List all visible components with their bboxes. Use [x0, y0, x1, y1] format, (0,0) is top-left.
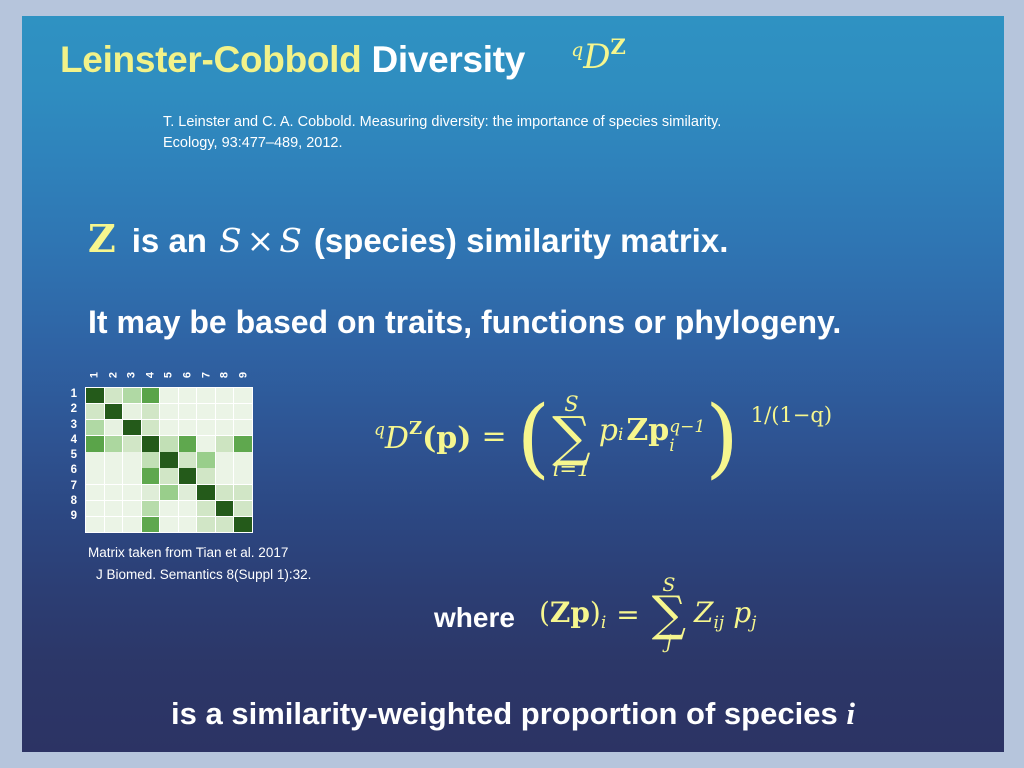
heatmap-cell: [234, 501, 252, 516]
heatmap-row-label-7: 7: [56, 479, 82, 494]
heatmap-cell: [160, 468, 178, 483]
heatmap-cell: [197, 485, 215, 500]
heatmap-cell: [123, 485, 141, 500]
heatmap-cell: [160, 485, 178, 500]
heatmap-row-label-1: 1: [56, 387, 82, 402]
heatmap-cell: [105, 420, 123, 435]
statement-line-1: Z is an S×S (species) similarity matrix.: [88, 216, 728, 261]
where-rhs-p: p: [733, 596, 751, 629]
heatmap-cell: [123, 404, 141, 419]
main-equation: qDZ(p) = ( S ∑ i=1 piZpq−1i ) 1/(1−q): [374, 394, 832, 480]
heatmap-cell: [234, 517, 252, 532]
summation-operator: S ∑ i=1: [552, 394, 591, 480]
heatmap-cell: [160, 404, 178, 419]
heatmap-cell: [234, 404, 252, 419]
where-rhs-z-subscript: ij: [713, 613, 724, 633]
heatmap-cell: [123, 436, 141, 451]
term-p-vector-indices: q−1i: [669, 427, 705, 461]
heatmap-cell: [179, 452, 197, 467]
where-equals: =: [616, 598, 639, 631]
heatmap-cell: [179, 388, 197, 403]
term-p: p: [599, 413, 618, 448]
equation-lhs: qDZ(p): [374, 418, 471, 456]
heatmap-cell: [216, 404, 234, 419]
where-lhs: (Zp)i: [539, 596, 606, 633]
heatmap-cell: [105, 452, 123, 467]
sigma-icon: ∑: [552, 413, 591, 461]
matrix-caption-line-1: Matrix taken from Tian et al. 2017: [88, 542, 311, 564]
heatmap-cell: [123, 517, 141, 532]
dimension-s-left: S: [219, 221, 242, 260]
statement-line-2: It may be based on traits, functions or …: [88, 304, 841, 341]
heatmap-cell: [86, 501, 104, 516]
equation-equals: =: [481, 419, 506, 454]
heatmap-cell: [216, 468, 234, 483]
heatmap-cell: [86, 404, 104, 419]
heatmap-cell: [105, 436, 123, 451]
equation-lhs-argument: (p): [422, 421, 471, 456]
heatmap-cell: [234, 485, 252, 500]
heatmap-cell: [197, 420, 215, 435]
statement-3-variable: i: [846, 696, 855, 731]
where-paren-open: (: [539, 596, 550, 629]
heatmap-cell: [197, 436, 215, 451]
heatmap-cell: [160, 388, 178, 403]
heatmap-cell: [105, 388, 123, 403]
heatmap-cell: [216, 485, 234, 500]
heatmap-cell: [179, 404, 197, 419]
heatmap-row-label-6: 6: [56, 463, 82, 478]
title-text-primary: Leinster-Cobbold: [60, 39, 361, 81]
equation-summand: piZpq−1i: [599, 413, 706, 461]
heatmap-cell: [123, 501, 141, 516]
statement-1-text-before: is an: [132, 222, 207, 260]
slide-frame: Leinster-Cobbold Diversity qDZ T. Leinst…: [0, 0, 1024, 768]
term-p-vector-subscript: i: [669, 438, 705, 455]
where-z-matrix: Z: [550, 596, 570, 629]
page-title: Leinster-Cobbold Diversity qDZ: [60, 38, 626, 81]
heatmap-cell: [105, 501, 123, 516]
heatmap-cell: [142, 501, 160, 516]
equation-lhs-sup-z: Z: [409, 418, 422, 439]
equation-paren-close: ): [705, 408, 739, 470]
presentation-slide: Leinster-Cobbold Diversity qDZ T. Leinst…: [22, 16, 1004, 752]
heatmap-cell: [123, 468, 141, 483]
heatmap-cell: [234, 468, 252, 483]
title-formula-base: D: [583, 37, 610, 77]
where-summation-lower-limit: j: [666, 633, 672, 652]
where-p-vector: p: [570, 596, 590, 629]
heatmap-cell: [179, 485, 197, 500]
heatmap-cell: [160, 420, 178, 435]
statement-line-3: is a similarity-weighted proportion of s…: [22, 696, 1004, 732]
heatmap-row-label-4: 4: [56, 433, 82, 448]
equation-lhs-base: D: [385, 421, 409, 456]
heatmap-cell: [160, 452, 178, 467]
heatmap-cell: [197, 501, 215, 516]
where-rhs-z: Z: [694, 596, 713, 629]
matrix-dimensions: S×S: [219, 221, 302, 260]
heatmap-cell: [179, 420, 197, 435]
heatmap-cell: [179, 517, 197, 532]
summation-lower-limit: i=1: [553, 459, 591, 480]
statement-3-text: is a similarity-weighted proportion of s…: [171, 696, 838, 731]
heatmap-cell: [179, 468, 197, 483]
heatmap-cell: [105, 517, 123, 532]
heatmap-cell: [197, 404, 215, 419]
equation-lhs-sup-q: q: [374, 420, 385, 440]
heatmap-cell: [216, 452, 234, 467]
heatmap-cell: [142, 452, 160, 467]
term-p-vector: p: [648, 413, 669, 448]
title-formula-superscript-q: q: [571, 39, 583, 61]
heatmap-row-label-2: 2: [56, 402, 82, 417]
heatmap-wrapper: 123456789 123456789: [52, 364, 272, 526]
heatmap-cell: [142, 436, 160, 451]
heatmap-cell: [216, 517, 234, 532]
heatmap-column-axis: 123456789: [85, 364, 252, 386]
where-lhs-subscript: i: [601, 613, 606, 633]
heatmap-row-axis: 123456789: [56, 387, 82, 525]
heatmap-cell: [86, 485, 104, 500]
matrix-caption: Matrix taken from Tian et al. 2017 J Bio…: [88, 542, 311, 585]
heatmap-cell: [216, 501, 234, 516]
heatmap-cell: [216, 388, 234, 403]
where-equation: where (Zp)i = S ∑ j Zijpj: [434, 576, 756, 652]
where-rhs: Zijpj: [694, 596, 756, 633]
heatmap-cell: [86, 420, 104, 435]
heatmap-col-label-9: 9: [232, 366, 254, 385]
heatmap-cell: [86, 436, 104, 451]
title-formula-superscript-z: Z: [611, 34, 626, 59]
heatmap-cell: [86, 517, 104, 532]
heatmap-cell: [142, 468, 160, 483]
heatmap-cell: [123, 420, 141, 435]
heatmap-grid: [85, 387, 253, 533]
heatmap-cell: [197, 388, 215, 403]
heatmap-row-label-5: 5: [56, 448, 82, 463]
heatmap-cell: [197, 517, 215, 532]
similarity-matrix-figure: 123456789 123456789 Matrix taken from Ti…: [52, 364, 272, 526]
heatmap-row-label-8: 8: [56, 494, 82, 509]
heatmap-cell: [234, 420, 252, 435]
where-label: where: [434, 602, 515, 634]
z-matrix-symbol: Z: [88, 216, 116, 261]
where-summation-operator: S ∑ j: [652, 576, 686, 652]
heatmap-cell: [234, 452, 252, 467]
heatmap-cell: [142, 404, 160, 419]
heatmap-cell: [105, 468, 123, 483]
heatmap-cell: [142, 420, 160, 435]
title-text-secondary: Diversity: [371, 39, 525, 81]
heatmap-cell: [179, 501, 197, 516]
heatmap-cell: [179, 436, 197, 451]
matrix-caption-line-2: J Biomed. Semantics 8(Suppl 1):32.: [88, 564, 311, 586]
heatmap-cell: [86, 388, 104, 403]
heatmap-cell: [142, 485, 160, 500]
heatmap-cell: [105, 404, 123, 419]
title-formula: qDZ: [571, 34, 626, 77]
where-sigma-icon: ∑: [652, 593, 686, 635]
heatmap-cell: [197, 452, 215, 467]
heatmap-cell: [142, 517, 160, 532]
citation-text: T. Leinster and C. A. Cobbold. Measuring…: [163, 112, 763, 154]
equation-outer-exponent: 1/(1−q): [751, 403, 832, 427]
heatmap-cell: [123, 388, 141, 403]
heatmap-cell: [160, 517, 178, 532]
heatmap-cell: [234, 388, 252, 403]
heatmap-cell: [234, 436, 252, 451]
heatmap-cell: [123, 452, 141, 467]
times-icon: ×: [242, 221, 280, 260]
term-z-matrix: Z: [626, 413, 648, 448]
where-paren-close: ): [590, 596, 601, 629]
heatmap-cell: [160, 501, 178, 516]
heatmap-cell: [160, 436, 178, 451]
term-p-subscript: i: [618, 425, 623, 445]
where-rhs-p-subscript: j: [751, 613, 756, 633]
where-math-expression: (Zp)i = S ∑ j Zijpj: [539, 576, 756, 652]
heatmap-row-label-9: 9: [56, 509, 82, 524]
heatmap-cell: [216, 436, 234, 451]
heatmap-cell: [86, 468, 104, 483]
dimension-s-right: S: [279, 221, 302, 260]
heatmap-row-label-3: 3: [56, 418, 82, 433]
heatmap-cell: [142, 388, 160, 403]
statement-1-text-after: (species) similarity matrix.: [314, 222, 729, 260]
heatmap-cell: [86, 452, 104, 467]
equation-paren-open: (: [517, 408, 551, 470]
heatmap-cell: [197, 468, 215, 483]
heatmap-cell: [216, 420, 234, 435]
heatmap-cell: [105, 485, 123, 500]
term-p-vector-superscript: q−1: [669, 419, 705, 436]
